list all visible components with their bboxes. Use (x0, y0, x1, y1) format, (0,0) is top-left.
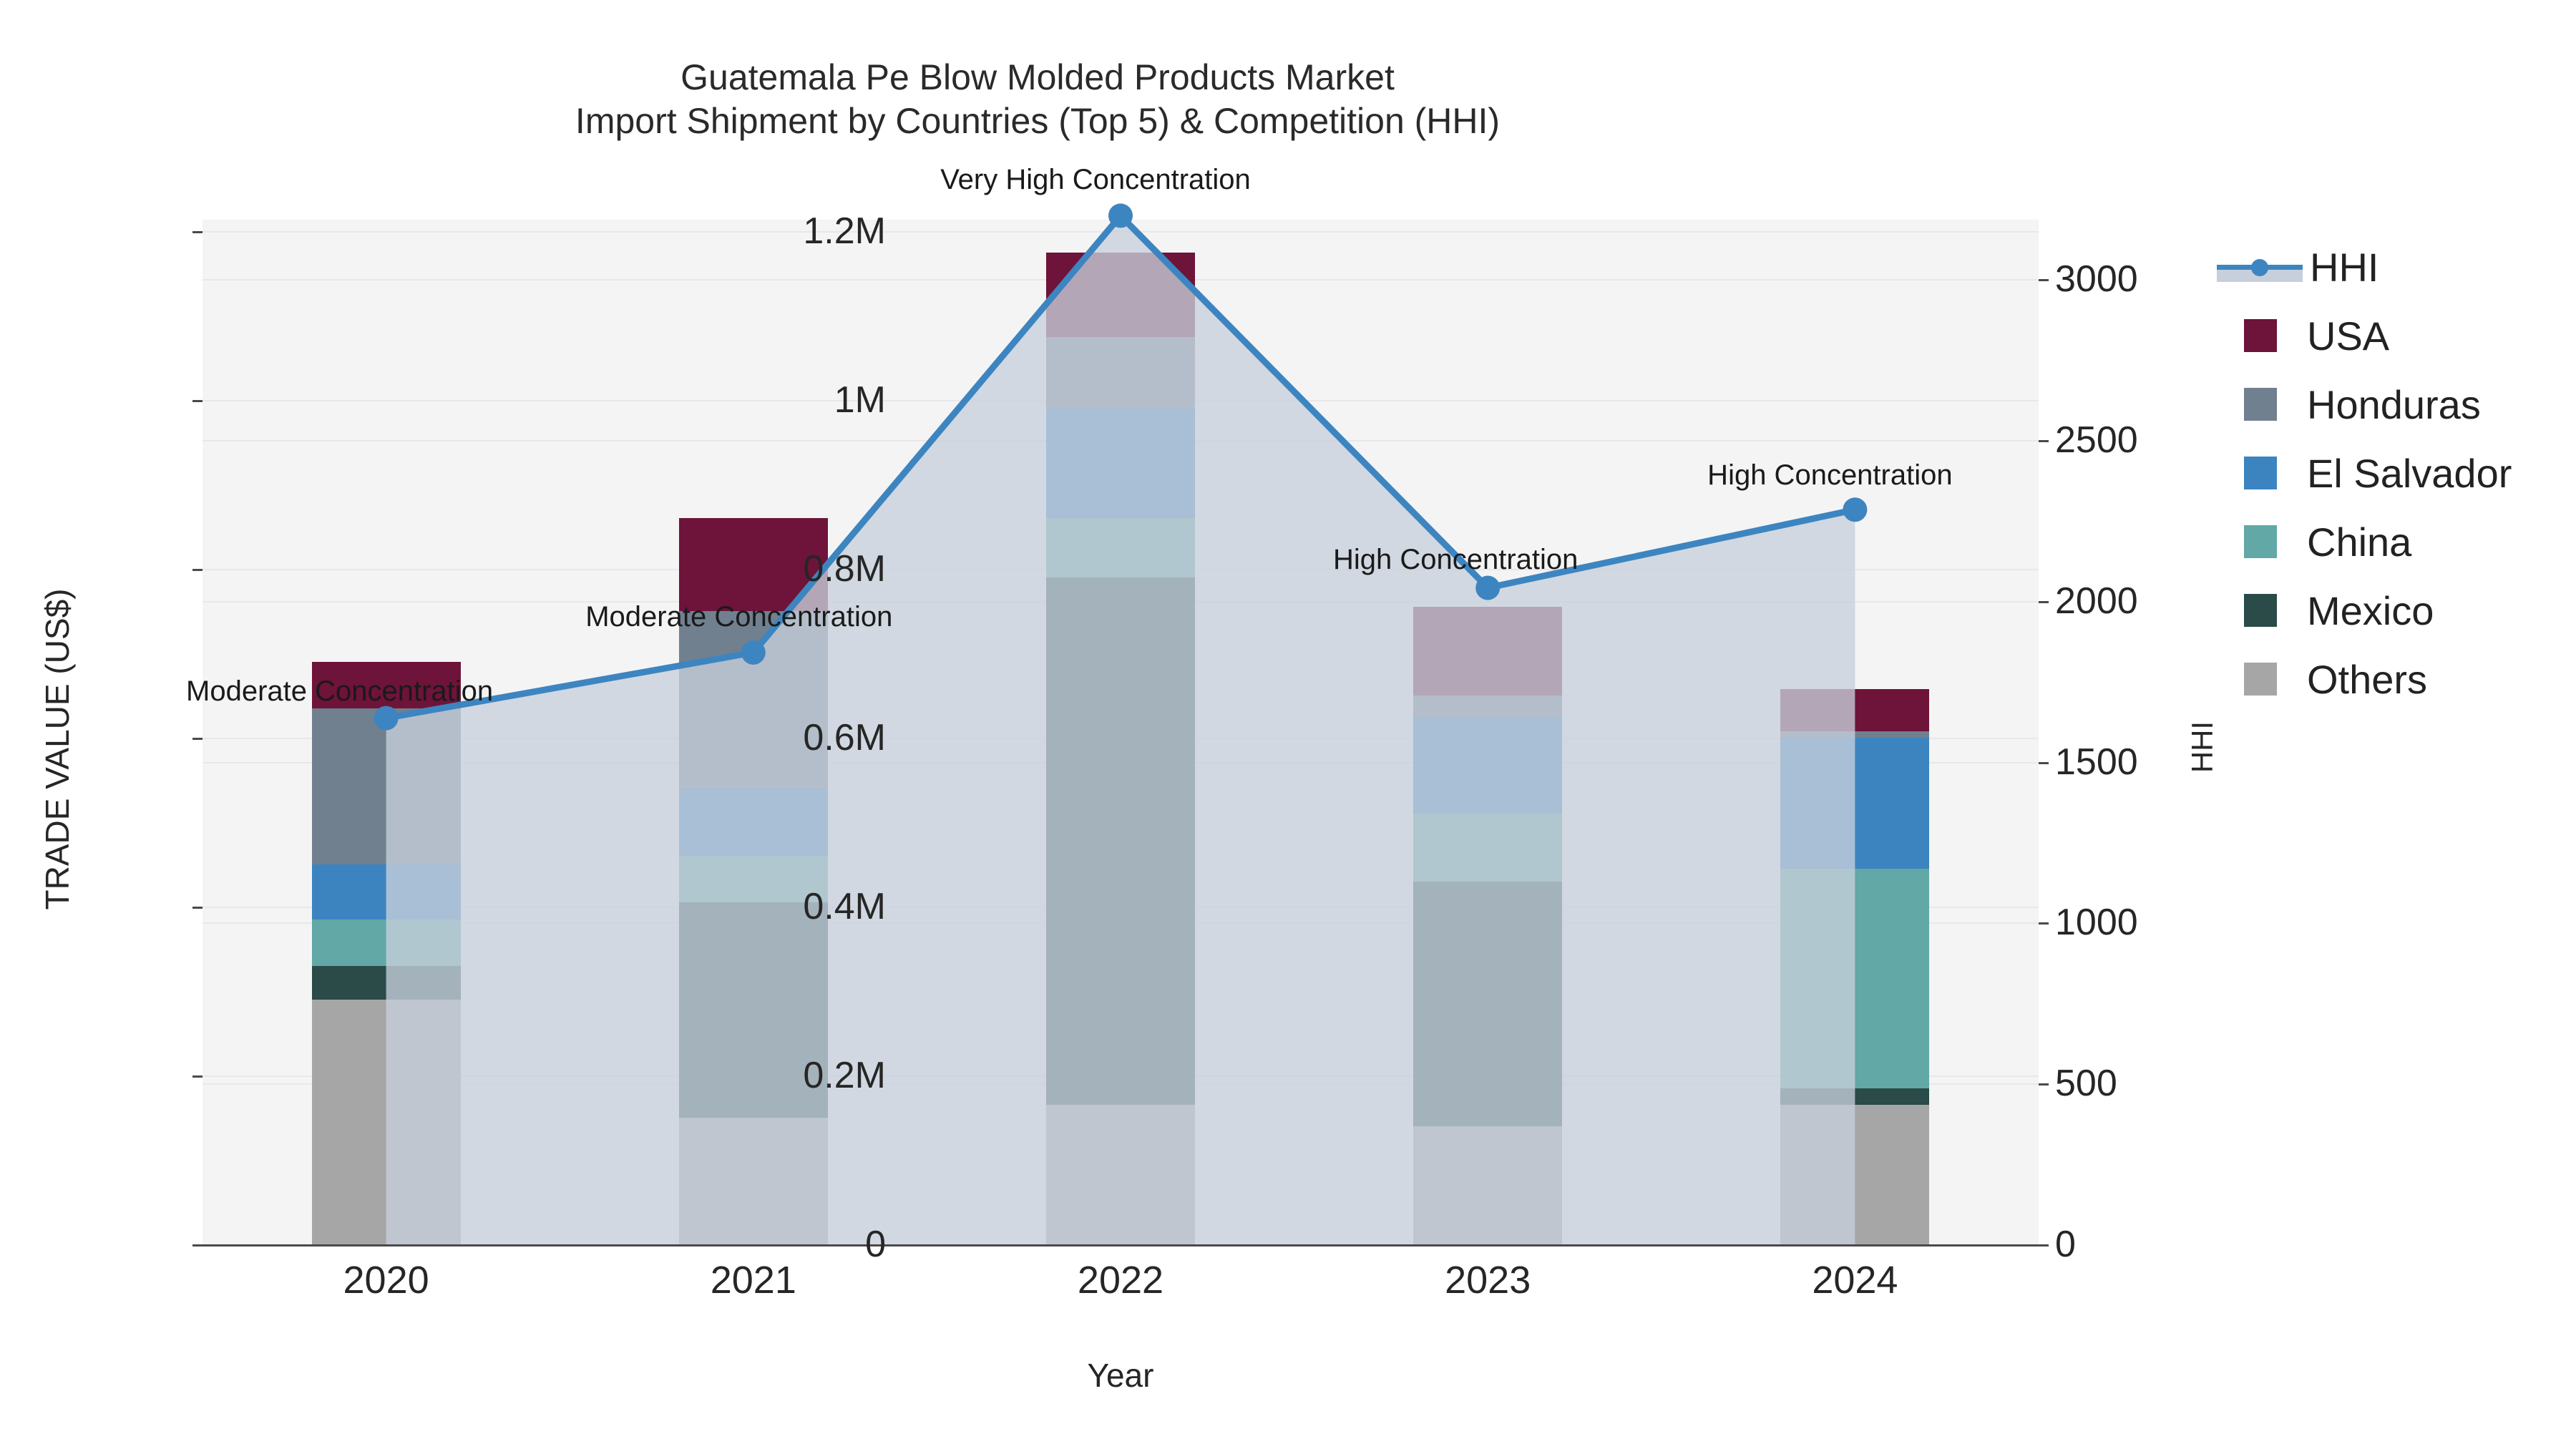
legend-item[interactable]: HHI (2217, 233, 2512, 301)
y-axis-right-tick (2039, 601, 2049, 603)
legend-color-swatch (2244, 594, 2277, 627)
legend-item[interactable]: USA (2217, 301, 2512, 370)
y-axis-right-tick (2039, 1244, 2049, 1246)
bar-segment[interactable] (679, 1118, 828, 1244)
legend-item[interactable]: Mexico (2217, 576, 2512, 645)
y-axis-right-tick-label: 500 (2055, 1062, 2117, 1105)
legend-color-swatch (2244, 388, 2277, 421)
bar-segment[interactable] (1046, 518, 1195, 577)
y-axis-right-tick-label: 2000 (2055, 580, 2138, 623)
y-axis-left-tick (192, 569, 203, 571)
y-axis-right-tick-label: 1500 (2055, 741, 2138, 784)
y-axis-left-tick-label: 0.4M (803, 885, 886, 928)
bar-segment[interactable] (1046, 577, 1195, 1106)
y-axis-left-tick-label: 1M (834, 379, 886, 421)
bar-segment[interactable] (312, 864, 461, 919)
chart-title-line2: Import Shipment by Countries (Top 5) & C… (0, 99, 2075, 143)
y-axis-right-tick-label: 2500 (2055, 419, 2138, 462)
y-axis-left-tick-label: 1.2M (803, 210, 886, 253)
x-axis-line (203, 1244, 2039, 1246)
y-axis-right-tick (2039, 922, 2049, 924)
bar-segment[interactable] (679, 789, 828, 856)
y-axis-left-tick (192, 1075, 203, 1078)
bar-segment[interactable] (312, 1000, 461, 1244)
legend-item[interactable]: El Salvador (2217, 439, 2512, 507)
bar-segment[interactable] (1413, 1126, 1562, 1244)
bar-segment[interactable] (1046, 409, 1195, 518)
y-axis-right-title: HHI (2185, 640, 2220, 854)
bar-segment[interactable] (1780, 869, 1929, 1088)
y-axis-right-tick-label: 0 (2055, 1223, 2076, 1266)
legend-marker-dot (2251, 259, 2268, 276)
legend-item[interactable]: Honduras (2217, 370, 2512, 439)
y-axis-right-tick-label: 1000 (2055, 901, 2138, 944)
concentration-annotation: Very High Concentration (940, 164, 1251, 196)
y-axis-left-tick-label: 0.2M (803, 1054, 886, 1097)
bar-segment[interactable] (1413, 717, 1562, 814)
concentration-annotation: Moderate Concentration (186, 675, 493, 708)
legend-item-label: USA (2307, 313, 2389, 359)
concentration-annotation: Moderate Concentration (585, 601, 892, 633)
bar-segment[interactable] (1046, 253, 1195, 337)
legend-color-swatch (2244, 457, 2277, 489)
y-axis-left-tick (192, 231, 203, 233)
y-axis-left-title: TRADE VALUE (US$) (38, 499, 77, 1000)
y-axis-left-tick-label: 0.8M (803, 547, 886, 590)
bar-segment[interactable] (1780, 1105, 1929, 1244)
y-axis-right-tick (2039, 279, 2049, 281)
y-axis-left-tick (192, 907, 203, 909)
bar-segment[interactable] (1780, 689, 1929, 731)
bar-segment[interactable] (1413, 882, 1562, 1126)
bar-segment[interactable] (1413, 696, 1562, 717)
legend-item-label: Mexico (2307, 587, 2434, 634)
chart-legend: HHIUSAHondurasEl SalvadorChinaMexicoOthe… (2217, 233, 2512, 713)
bar-segment[interactable] (1046, 337, 1195, 409)
bar-segment[interactable] (1413, 607, 1562, 696)
legend-item-label: Honduras (2307, 381, 2481, 428)
legend-item-label: Others (2307, 656, 2427, 703)
x-axis-tick-label: 2022 (977, 1258, 1264, 1302)
x-axis-tick-label: 2020 (243, 1258, 530, 1302)
gridline (203, 231, 2039, 233)
y-axis-right-tick (2039, 440, 2049, 442)
bar-segment[interactable] (1780, 1088, 1929, 1106)
bar-segment[interactable] (1780, 738, 1929, 869)
y-axis-right-tick (2039, 1083, 2049, 1085)
legend-line-key (2217, 250, 2303, 283)
x-axis-tick-label: 2024 (1712, 1258, 1998, 1302)
x-axis-tick-label: 2021 (610, 1258, 897, 1302)
bar-segment[interactable] (312, 966, 461, 1000)
chart-title: Guatemala Pe Blow Molded Products Market… (0, 56, 2075, 143)
legend-color-swatch (2244, 663, 2277, 696)
bar-segment[interactable] (679, 611, 828, 789)
legend-item-label: China (2307, 519, 2411, 565)
bar-segment[interactable] (312, 919, 461, 966)
x-axis-title: Year (203, 1356, 2039, 1395)
y-axis-left-tick (192, 400, 203, 402)
legend-item-label: HHI (2310, 244, 2379, 291)
concentration-annotation: High Concentration (1707, 459, 1952, 492)
y-axis-right-tick-label: 3000 (2055, 258, 2138, 301)
x-axis-tick-label: 2023 (1345, 1258, 1631, 1302)
chart-title-line1: Guatemala Pe Blow Molded Products Market (0, 56, 2075, 99)
concentration-annotation: High Concentration (1333, 544, 1578, 576)
bar-segment[interactable] (1413, 814, 1562, 881)
bar-segment[interactable] (1046, 1105, 1195, 1244)
bar-segment[interactable] (1780, 731, 1929, 738)
legend-item-label: El Salvador (2307, 450, 2512, 497)
y-axis-left-tick-label: 0.6M (803, 716, 886, 759)
y-axis-left-tick (192, 738, 203, 740)
legend-color-swatch (2244, 525, 2277, 558)
y-axis-right-tick (2039, 762, 2049, 764)
legend-item[interactable]: China (2217, 507, 2512, 576)
bar-segment[interactable] (312, 708, 461, 864)
y-axis-left-tick (192, 1244, 203, 1246)
legend-color-swatch (2244, 319, 2277, 352)
legend-item[interactable]: Others (2217, 645, 2512, 713)
